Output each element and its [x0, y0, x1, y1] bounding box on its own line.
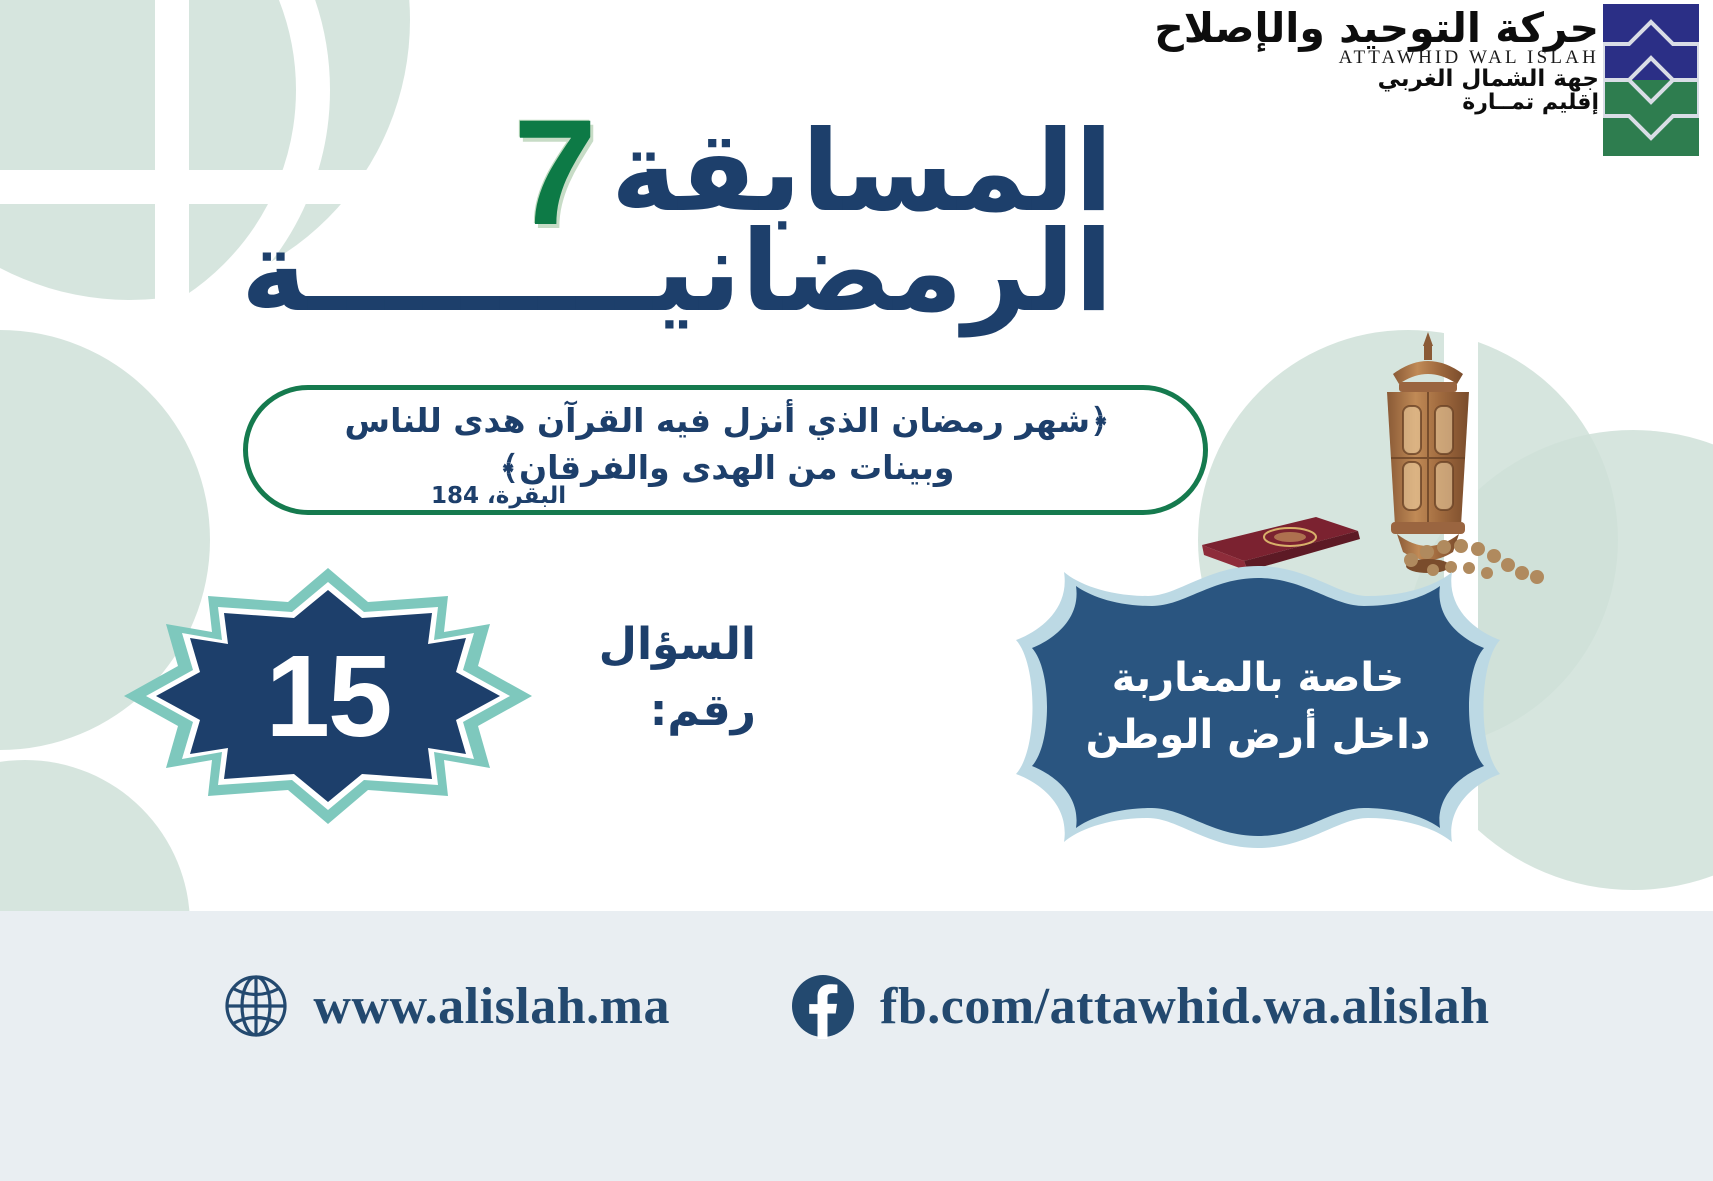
footer-bar: www.alislah.ma fb.com/attawhid.wa.alisla… — [0, 911, 1713, 1181]
logo-text-block: حركة التوحيد والإصلاح ATTAWHID WAL ISLAH… — [1154, 4, 1599, 114]
audience-line-1: خاصة بالمغاربة — [1112, 653, 1404, 704]
question-label-line-2: رقم: — [556, 678, 756, 744]
title-line-2: الرمضانيـــــــــة — [393, 216, 1113, 328]
logo-arabic-name: حركة التوحيد والإصلاح — [1154, 8, 1599, 50]
ramadan-scene — [1203, 330, 1563, 600]
verse-citation: البقرة، 184 — [431, 483, 566, 509]
audience-line-2: داخل أرض الوطن — [1086, 710, 1431, 761]
question-label-line-1: السؤال — [556, 612, 756, 678]
facebook-url: fb.com/attawhid.wa.alislah — [880, 977, 1490, 1036]
facebook-icon — [790, 973, 856, 1039]
verse-line-1: ﴿شهر رمضان الذي أنزل فيه القرآن هدى للنا… — [247, 398, 1207, 445]
question-label: السؤال رقم: — [556, 612, 756, 744]
website-link[interactable]: www.alislah.ma — [223, 973, 670, 1039]
logo-region: جهة الشمال الغربي — [1154, 68, 1599, 91]
logo-province: إقليم تمــارة — [1154, 92, 1599, 114]
facebook-link[interactable]: fb.com/attawhid.wa.alislah — [790, 973, 1490, 1039]
organization-logo: حركة التوحيد والإصلاح ATTAWHID WAL ISLAH… — [1154, 4, 1699, 156]
question-number-badge: 15 — [118, 562, 538, 830]
bg-mask-horizontal — [0, 170, 450, 204]
globe-icon — [223, 973, 289, 1039]
footer-links-row: www.alislah.ma fb.com/attawhid.wa.alisla… — [0, 973, 1713, 1039]
quran-verse-text: ﴿شهر رمضان الذي أنزل فيه القرآن هدى للنا… — [247, 398, 1207, 492]
question-number-value: 15 — [118, 562, 538, 830]
logo-star-mark-icon — [1603, 4, 1699, 156]
poster-title: المسابقة 7 الرمضانيـــــــــة — [393, 105, 1113, 328]
audience-badge-text: خاصة بالمغاربة داخل أرض الوطن — [1008, 562, 1508, 852]
competition-poster: حركة التوحيد والإصلاح ATTAWHID WAL ISLAH… — [0, 0, 1713, 1181]
website-url: www.alislah.ma — [313, 977, 670, 1036]
audience-badge: خاصة بالمغاربة داخل أرض الوطن — [1008, 562, 1508, 852]
bg-mask-vertical — [155, 0, 189, 340]
verse-line-2: وبينات من الهدى والفرقان﴾ — [247, 445, 1207, 492]
